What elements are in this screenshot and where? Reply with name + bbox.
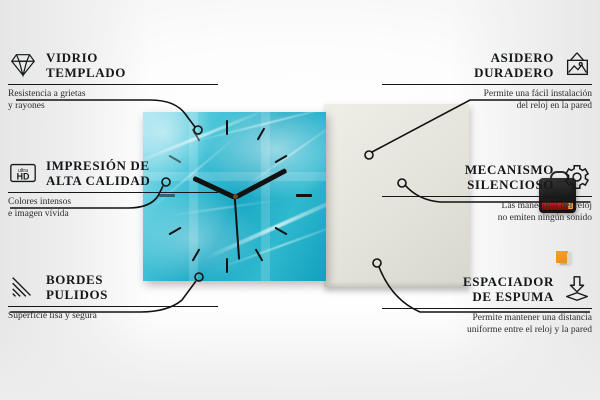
feature-title: IMPRESIÓN DE ALTA CALIDAD [46, 158, 150, 188]
feature-tempered-glass: VIDRIO TEMPLADO Resistencia a grietas y … [8, 50, 218, 112]
feature-subtitle: Las manecillas del reloj no emiten ningú… [382, 201, 592, 224]
glass-seam-vertical-2 [261, 112, 270, 281]
hour-tick [168, 227, 181, 236]
feature-durable-hanger: ASIDERO DURADERO Permite una fácil insta… [382, 50, 592, 112]
hour-tick [226, 120, 228, 135]
divider [382, 308, 592, 309]
feature-title: MECANISMO SILENCIOSO [465, 162, 554, 192]
foam-spacer [556, 251, 568, 263]
divider [8, 192, 218, 193]
feature-header: MECANISMO SILENCIOSO [382, 162, 592, 192]
product-infographic: VIDRIO TEMPLADO Resistencia a grietas y … [0, 0, 600, 400]
divider [382, 196, 592, 197]
feature-title: ESPACIADOR DE ESPUMA [463, 274, 554, 304]
feature-title: ASIDERO DURADERO [474, 50, 554, 80]
arrow-down-layers-icon [562, 274, 592, 304]
feature-header: VIDRIO TEMPLADO [8, 50, 218, 80]
hour-tick [296, 194, 312, 197]
feature-silent-mechanism: MECANISMO SILENCIOSO Las manecillas del … [382, 162, 592, 224]
svg-text:HD: HD [17, 172, 30, 182]
feature-subtitle: Permite una fácil instalación del reloj … [382, 89, 592, 112]
hour-tick [274, 227, 287, 236]
wall-frame-icon [562, 50, 592, 80]
feature-subtitle: Colores intensos e imagen vívida [8, 197, 218, 220]
feature-header: ultra HD IMPRESIÓN DE ALTA CALIDAD [8, 158, 218, 188]
divider [8, 306, 218, 307]
hour-tick [226, 258, 228, 273]
feature-subtitle: Superficie lisa y segura [8, 311, 218, 323]
feature-header: ESPACIADOR DE ESPUMA [382, 274, 592, 304]
feature-high-quality-print: ultra HD IMPRESIÓN DE ALTA CALIDAD Color… [8, 158, 218, 220]
divider [382, 84, 592, 85]
feature-subtitle: Permite mantener una distancia uniforme … [382, 313, 592, 336]
feature-title: VIDRIO TEMPLADO [46, 50, 126, 80]
feature-header: ASIDERO DURADERO [382, 50, 592, 80]
ultra-hd-icon: ultra HD [8, 158, 38, 188]
feature-foam-spacer: ESPACIADOR DE ESPUMA Permite mantener un… [382, 274, 592, 336]
feature-subtitle: Resistencia a grietas y rayones [8, 89, 218, 112]
diamond-icon [8, 50, 38, 80]
feature-polished-edges: BORDES PULIDOS Superficie lisa y segura [8, 272, 218, 323]
feature-header: BORDES PULIDOS [8, 272, 218, 302]
gear-icon [562, 162, 592, 192]
hand-hub [233, 194, 238, 199]
divider [8, 84, 218, 85]
polished-edges-icon [8, 272, 38, 302]
feature-title: BORDES PULIDOS [46, 272, 108, 302]
